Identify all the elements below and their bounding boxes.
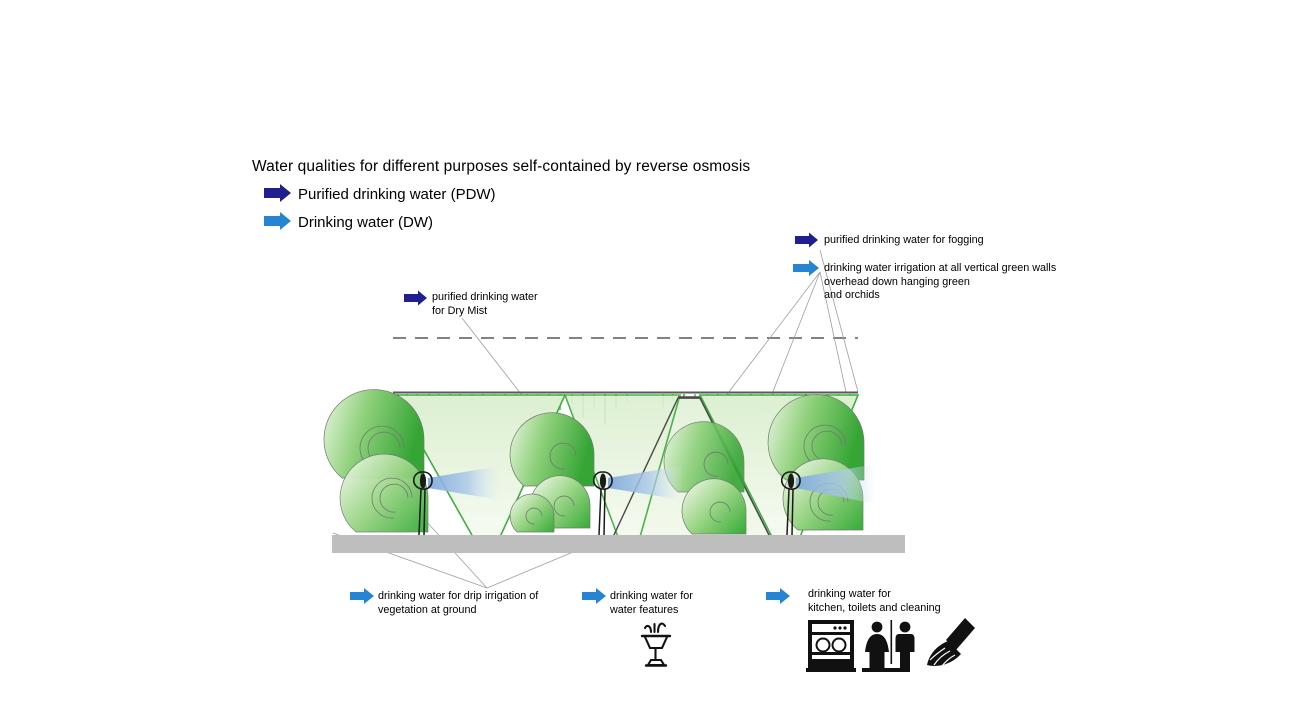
spiral-plant bbox=[510, 494, 554, 532]
annotation-kitchen-label: drinking water for kitchen, toilets and … bbox=[808, 588, 941, 615]
ground-slab bbox=[332, 535, 905, 553]
drinking-fountain-icon bbox=[642, 624, 670, 666]
annotation-arrow-irrigation bbox=[793, 260, 819, 276]
annotation-drip-label: drinking water for drip irrigation of ve… bbox=[378, 590, 538, 617]
dishwasher-icon bbox=[806, 620, 856, 672]
annotation-drymist-label: purified drinking water for Dry Mist bbox=[432, 291, 538, 318]
annotation-arrow-kitchen bbox=[766, 588, 790, 604]
annotation-fogging-label: purified drinking water for fogging bbox=[824, 234, 984, 248]
annotation-features-label: drinking water for water features bbox=[610, 590, 693, 617]
legend-arrow-pdw bbox=[264, 184, 291, 202]
broom-icon bbox=[927, 618, 975, 667]
legend-arrow-dw bbox=[264, 212, 291, 230]
restroom-icon bbox=[862, 620, 915, 672]
annotation-arrow-drip bbox=[350, 588, 374, 604]
annotation-arrow-fogging bbox=[795, 233, 818, 248]
page-title: Water qualities for different purposes s… bbox=[252, 158, 750, 176]
legend-item-pdw-label: Purified drinking water (PDW) bbox=[298, 186, 496, 203]
diagram-canvas: Water qualities for different purposes s… bbox=[0, 0, 1300, 712]
legend-item-dw-label: Drinking water (DW) bbox=[298, 214, 433, 231]
annotation-irrigation-label: drinking water irrigation at all vertica… bbox=[824, 262, 1056, 303]
annotation-arrow-drymist bbox=[404, 291, 427, 306]
annotation-arrow-features bbox=[582, 588, 606, 604]
